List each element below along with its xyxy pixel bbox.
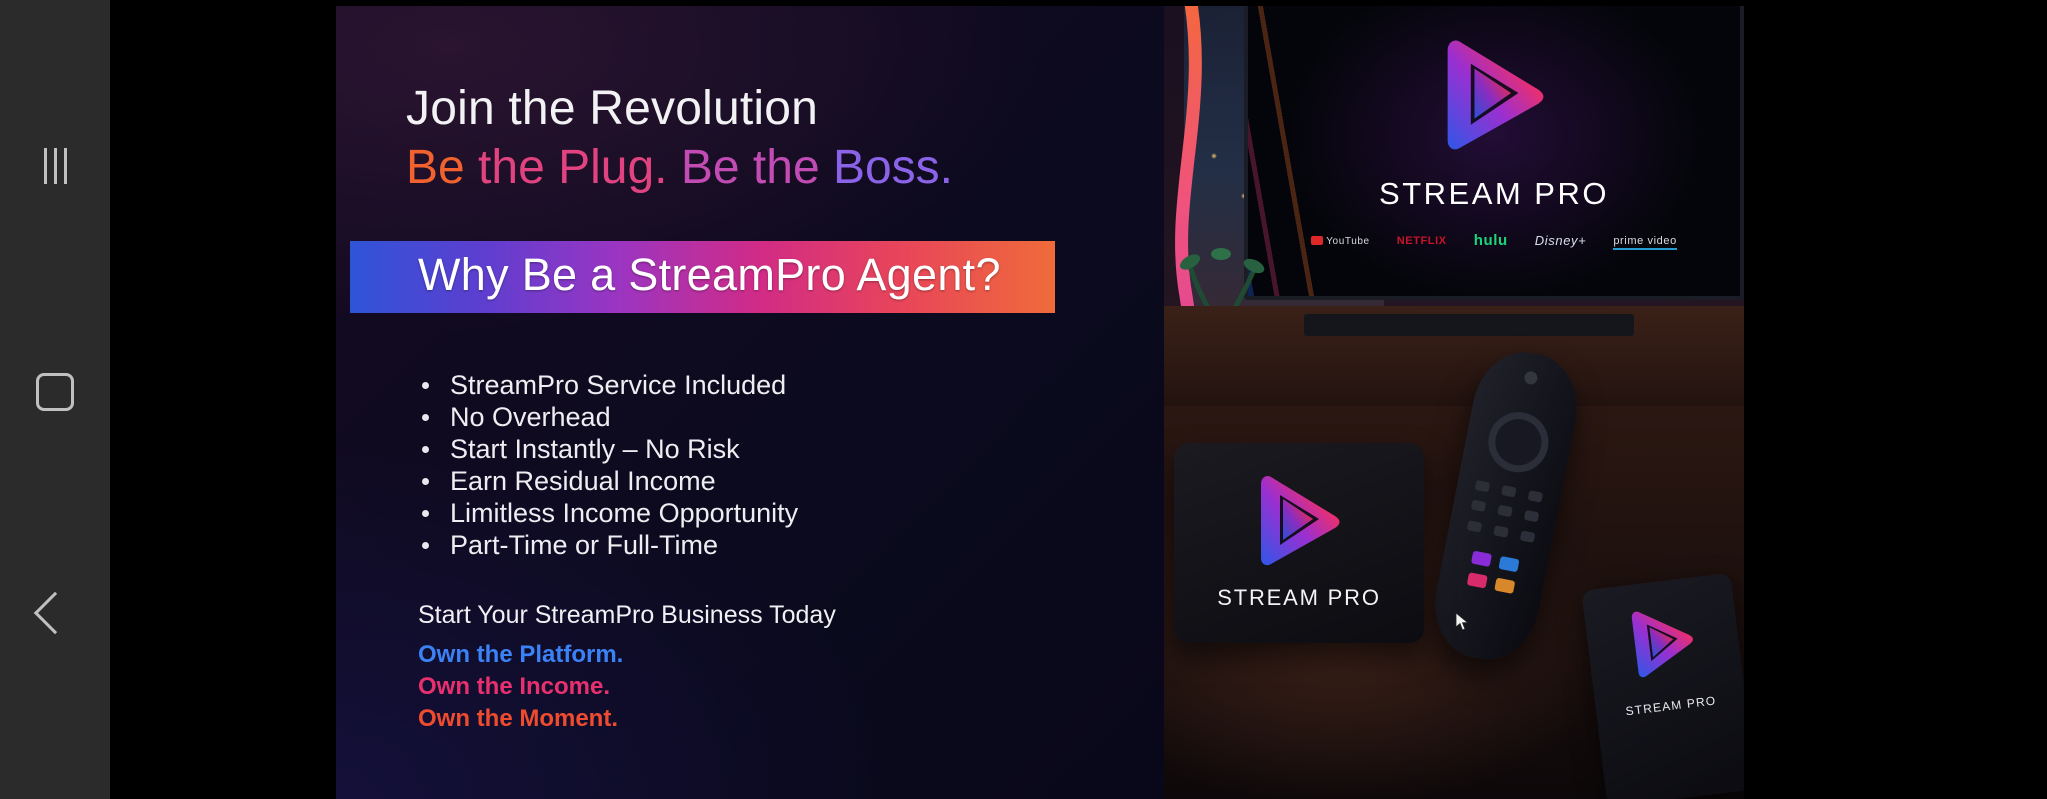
cta-line-income: Own the Income. (418, 671, 836, 703)
brand-hulu: hulu (1474, 232, 1508, 249)
bullet-dot-icon (422, 414, 429, 421)
back-button[interactable] (0, 598, 110, 628)
list-item-label: No Overhead (450, 402, 611, 432)
slide-text-column: Join the Revolution Be the Plug. Be the … (336, 6, 1196, 799)
list-item-label: Limitless Income Opportunity (450, 498, 798, 528)
television: STREAM PRO YouTube NETFLIX hulu Disney+ … (1244, 6, 1744, 300)
cta-line-moment: Own the Moment. (418, 703, 836, 735)
headline-word-3: Plug. (558, 141, 681, 194)
streampro-play-logo-icon (1621, 599, 1705, 682)
tv-brand-title: STREAM PRO (1248, 176, 1740, 212)
streaming-device-box-secondary: STREAM PRO (1581, 573, 1744, 799)
box-secondary-brand-title: STREAM PRO (1596, 690, 1744, 722)
list-item: Start Instantly – No Risk (416, 433, 798, 465)
slide-headline-secondary: Be the Plug. Be the Boss. (406, 140, 953, 195)
youtube-play-icon (1311, 236, 1323, 245)
list-item: Limitless Income Opportunity (416, 497, 798, 529)
bullet-dot-icon (422, 478, 429, 485)
headline-word-6: Boss. (833, 141, 953, 194)
list-item: Earn Residual Income (416, 465, 798, 497)
streaming-brand-row: YouTube NETFLIX hulu Disney+ prime video (1248, 232, 1740, 249)
headline-word-1: Be (406, 141, 478, 194)
cta-lead-text: Start Your StreamPro Business Today (418, 601, 836, 630)
brand-disney-plus: Disney+ (1535, 233, 1587, 248)
left-letterbox (220, 0, 336, 799)
streampro-play-logo-icon (1430, 32, 1558, 154)
list-item: StreamPro Service Included (416, 369, 798, 401)
list-item-label: Part-Time or Full-Time (450, 530, 718, 560)
remote-app-shortcut-buttons (1467, 551, 1520, 594)
call-to-action-block: Start Your StreamPro Business Today Own … (418, 601, 836, 735)
list-item-label: StreamPro Service Included (450, 370, 786, 400)
box-brand-title: STREAM PRO (1174, 585, 1424, 611)
phone-screen: Join the Revolution Be the Plug. Be the … (0, 0, 2047, 799)
home-button[interactable] (0, 373, 110, 411)
streaming-device-box: STREAM PRO (1174, 443, 1424, 643)
chevron-left-icon (34, 592, 76, 634)
list-item: No Overhead (416, 401, 798, 433)
headline-word-2: the (478, 141, 558, 194)
home-icon (36, 373, 74, 411)
remote-dpad-ring (1483, 407, 1553, 477)
brand-youtube-label: YouTube (1326, 236, 1370, 247)
benefits-list: StreamPro Service Included No Overhead S… (416, 369, 798, 561)
system-navigation-bar (0, 0, 110, 799)
brand-prime-video: prime video (1613, 235, 1676, 247)
brand-prime-video-label: prime video (1613, 235, 1676, 250)
headline-word-4: Be (681, 141, 753, 194)
bullet-dot-icon (422, 382, 429, 389)
slide-headline-primary: Join the Revolution (406, 81, 818, 136)
list-item-label: Start Instantly – No Risk (450, 434, 740, 464)
banner-text: Why Be a StreamPro Agent? (418, 249, 1001, 301)
bullet-dot-icon (422, 542, 429, 549)
bullet-dot-icon (422, 446, 429, 453)
right-letterbox (1744, 0, 2047, 799)
slide-product-photo: STREAM PRO YouTube NETFLIX hulu Disney+ … (1164, 6, 1744, 799)
bullet-dot-icon (422, 510, 429, 517)
brand-netflix: NETFLIX (1397, 235, 1447, 247)
cta-line-platform: Own the Platform. (418, 639, 836, 671)
list-item: Part-Time or Full-Time (416, 529, 798, 561)
streampro-play-logo-icon (1247, 469, 1351, 569)
presentation-slide[interactable]: Join the Revolution Be the Plug. Be the … (336, 6, 1744, 799)
headline-word-5: the (753, 141, 833, 194)
brand-youtube: YouTube (1311, 235, 1370, 247)
viewer-stage: Join the Revolution Be the Plug. Be the … (110, 0, 2047, 799)
recent-apps-button[interactable] (0, 148, 110, 184)
list-item-label: Earn Residual Income (450, 466, 716, 496)
remote-mic-icon (1523, 370, 1538, 385)
recent-apps-icon (44, 148, 67, 184)
soundbar (1304, 314, 1634, 336)
